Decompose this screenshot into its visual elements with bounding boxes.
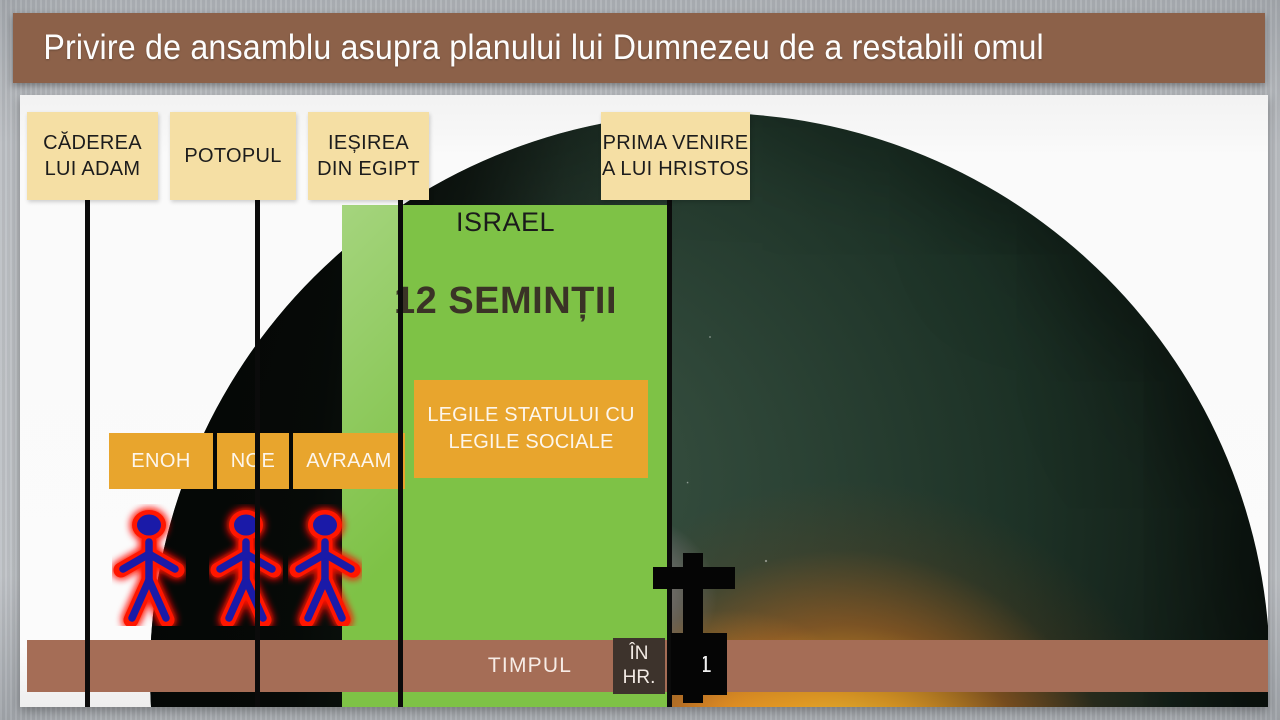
twelve-tribes-heading: 12 SEMINȚII xyxy=(342,280,669,323)
laws-box-line2: LEGILE SOCIALE xyxy=(448,431,613,453)
event-label-line2: DIN EGIPT xyxy=(317,158,420,180)
person-icon xyxy=(209,504,283,626)
event-label-potopul: POTOPUL xyxy=(170,112,296,200)
event-marker-line-egipt xyxy=(398,190,403,707)
event-label-line2: A LUI HRISTOS xyxy=(602,158,749,180)
person-box-enoh: ENOH xyxy=(109,433,213,489)
timeline-axis-label: TIMPUL xyxy=(420,640,640,692)
event-label-line2: LUI ADAM xyxy=(45,158,141,180)
era-box: ÎN HR. xyxy=(613,638,665,694)
slide-canvas: ISRAEL 12 SEMINȚII LEGILE STATULUI CU LE… xyxy=(20,95,1268,707)
era-line2: HR. xyxy=(623,666,656,690)
event-label-iesirea-din-egipt: IEȘIREA DIN EGIPT xyxy=(308,112,429,200)
person-icon xyxy=(112,504,186,626)
person-icon xyxy=(288,504,362,626)
page-title: Privire de ansamblu asupra planului lui … xyxy=(13,28,1044,68)
person-label-enoh: ENOH xyxy=(131,450,190,473)
person-label-noe: NOE xyxy=(231,450,276,473)
person-label-avraam: AVRAAM xyxy=(306,450,391,473)
event-label-line1: IEȘIREA xyxy=(328,132,409,154)
event-marker-line-potop xyxy=(255,190,260,707)
laws-box: LEGILE STATULUI CU LEGILE SOCIALE xyxy=(414,380,648,478)
slide-title-bar: Privire de ansamblu asupra planului lui … xyxy=(13,13,1265,83)
cross-icon-crossbar xyxy=(653,567,735,589)
person-box-noe: NOE xyxy=(217,433,289,489)
laws-box-line1: LEGILE STATULUI CU xyxy=(427,404,634,426)
event-marker-line-hristos xyxy=(667,190,672,707)
event-label-caderea-lui-adam: CĂDEREA LUI ADAM xyxy=(27,112,158,200)
event-label-line1: POTOPUL xyxy=(184,143,281,169)
event-label-line1: PRIMA VENIRE xyxy=(603,132,749,154)
person-box-avraam: AVRAAM xyxy=(293,433,405,489)
era-line1: ÎN xyxy=(630,642,649,666)
event-marker-line-adam xyxy=(85,190,90,707)
event-label-line1: CĂDEREA xyxy=(43,132,142,154)
israel-heading: ISRAEL xyxy=(342,207,669,238)
event-label-prima-venire-a-lui-hristos: PRIMA VENIRE A LUI HRISTOS xyxy=(601,112,750,200)
